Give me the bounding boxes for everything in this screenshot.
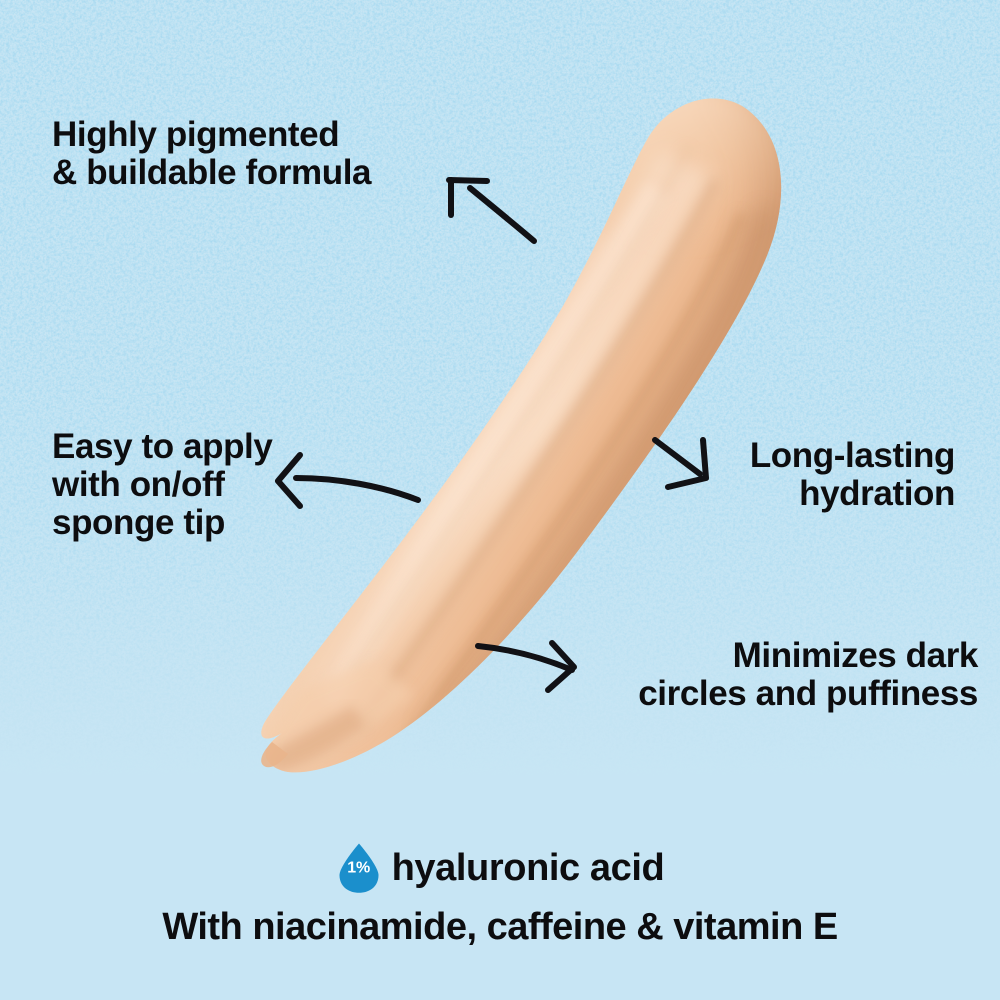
hyaluronic-percentage-label: 1% xyxy=(336,861,382,877)
hero-ingredient-label: hyaluronic acid xyxy=(392,849,665,887)
ingredient-block: 1% hyaluronic acid With niacinamide, caf… xyxy=(0,842,1000,946)
callout-long-lasting-hydration: Long-lasting hydration xyxy=(750,437,955,513)
water-drop-icon: 1% xyxy=(336,842,382,894)
callout-minimizes-dark-circles: Minimizes dark circles and puffiness xyxy=(0,637,978,713)
hero-ingredient-line: 1% hyaluronic acid xyxy=(0,842,1000,894)
callout-highly-pigmented: Highly pigmented & buildable formula xyxy=(52,116,371,192)
product-feature-graphic: Highly pigmented & buildable formula Eas… xyxy=(0,0,1000,1000)
supporting-ingredients-label: With niacinamide, caffeine & vitamin E xyxy=(0,908,1000,946)
arrow-up-left-icon xyxy=(449,180,534,241)
arrow-left-icon xyxy=(278,455,418,506)
arrow-down-right-icon xyxy=(655,440,706,487)
callout-easy-to-apply: Easy to apply with on/off sponge tip xyxy=(52,428,272,541)
